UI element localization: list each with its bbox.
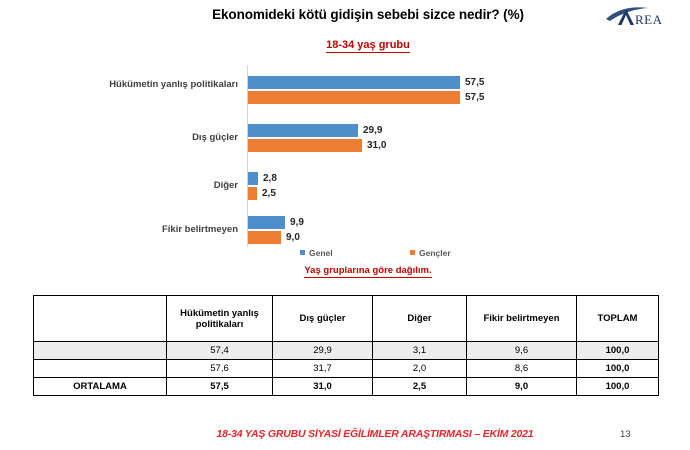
chart-bar-value: 9,9 — [290, 217, 304, 228]
table-row-label: ORTALAMA — [34, 378, 167, 396]
legend-label-gencler: Gençler — [419, 248, 451, 258]
chart-bar-gencler — [248, 91, 460, 104]
table-cell: 8,6 — [467, 360, 577, 378]
chart-bar-value: 57,5 — [465, 77, 484, 88]
legend-swatch-icon — [410, 250, 415, 255]
table-cell: 31,0 — [273, 378, 373, 396]
chart-bar-value: 31,0 — [367, 140, 386, 151]
table-cell: 100,0 — [577, 360, 659, 378]
table-cell: 100,0 — [577, 378, 659, 396]
chart-bar-value: 2,8 — [263, 173, 277, 184]
chart-category-label: Fikir belirtmeyen — [100, 224, 238, 236]
chart-bar-value: 29,9 — [363, 125, 382, 136]
chart-category-label: Dış güçler — [100, 132, 238, 144]
table-cell: 2,0 — [373, 360, 467, 378]
legend-item-genel: Genel — [300, 248, 333, 258]
table-header-cell: Fikir belirtmeyen — [467, 296, 577, 342]
bar-chart: Hükümetin yanlış politikaları57,557,5Dış… — [100, 62, 520, 252]
table-cell: 57,5 — [167, 378, 273, 396]
table-cell: 9,0 — [467, 378, 577, 396]
table-cell: 31,7 — [273, 360, 373, 378]
legend-swatch-icon — [300, 250, 305, 255]
table-header-cell: Diğer — [373, 296, 467, 342]
legend-label-genel: Genel — [309, 248, 333, 258]
data-table: Hükümetin yanlış politikalarıDış güçlerD… — [33, 295, 659, 396]
table-header-row: Hükümetin yanlış politikalarıDış güçlerD… — [34, 296, 659, 342]
chart-subtitle: 18-34 yaş grubu — [168, 39, 568, 51]
chart-bar-gencler — [248, 231, 281, 244]
chart-bar-value: 57,5 — [465, 92, 484, 103]
chart-bar-gencler — [248, 139, 362, 152]
table-row: 57,429,93,19,6100,0 — [34, 342, 659, 360]
legend-item-gencler: Gençler — [410, 248, 451, 258]
chart-bar-genel — [248, 216, 285, 229]
table-header-blank — [34, 296, 167, 342]
table-header-cell: Dış güçler — [273, 296, 373, 342]
area-logo: REA — [604, 4, 684, 30]
footer-title: 18-34 YAŞ GRUBU SİYASİ EĞİLİMLER ARAŞTIR… — [180, 428, 570, 440]
chart-subtitle-text: 18-34 yaş grubu — [326, 39, 410, 53]
table-header-cell: TOPLAM — [577, 296, 659, 342]
chart-bar-gencler — [248, 187, 257, 200]
chart-category-label: Diğer — [100, 180, 238, 192]
table-header-cell: Hükümetin yanlış politikaları — [167, 296, 273, 342]
table-row: ORTALAMA57,531,02,59,0100,0 — [34, 378, 659, 396]
page-number: 13 — [620, 429, 631, 440]
data-table-wrapper: Hükümetin yanlış politikalarıDış güçlerD… — [33, 295, 658, 396]
table-body: 57,429,93,19,6100,057,631,72,08,6100,0OR… — [34, 342, 659, 396]
chart-bar-genel — [248, 76, 460, 89]
table-cell: 100,0 — [577, 342, 659, 360]
table-cell: 9,6 — [467, 342, 577, 360]
chart-bar-value: 2,5 — [262, 188, 276, 199]
table-row-label — [34, 360, 167, 378]
chart-note: Yaş gruplarına göre dağılım. — [178, 265, 558, 276]
chart-category-label: Hükümetin yanlış politikaları — [100, 79, 238, 91]
table-cell: 2,5 — [373, 378, 467, 396]
table-cell: 29,9 — [273, 342, 373, 360]
page-title: Ekonomideki kötü gidişin sebebi sizce ne… — [168, 7, 568, 22]
chart-note-text: Yaş gruplarına göre dağılım. — [304, 265, 431, 278]
table-head: Hükümetin yanlış politikalarıDış güçlerD… — [34, 296, 659, 342]
table-cell: 57,6 — [167, 360, 273, 378]
chart-bar-genel — [248, 124, 358, 137]
svg-text:REA: REA — [635, 12, 663, 27]
table-row-label — [34, 342, 167, 360]
table-row: 57,631,72,08,6100,0 — [34, 360, 659, 378]
chart-bar-value: 9,0 — [286, 232, 300, 243]
chart-bar-genel — [248, 172, 258, 185]
table-cell: 57,4 — [167, 342, 273, 360]
table-cell: 3,1 — [373, 342, 467, 360]
